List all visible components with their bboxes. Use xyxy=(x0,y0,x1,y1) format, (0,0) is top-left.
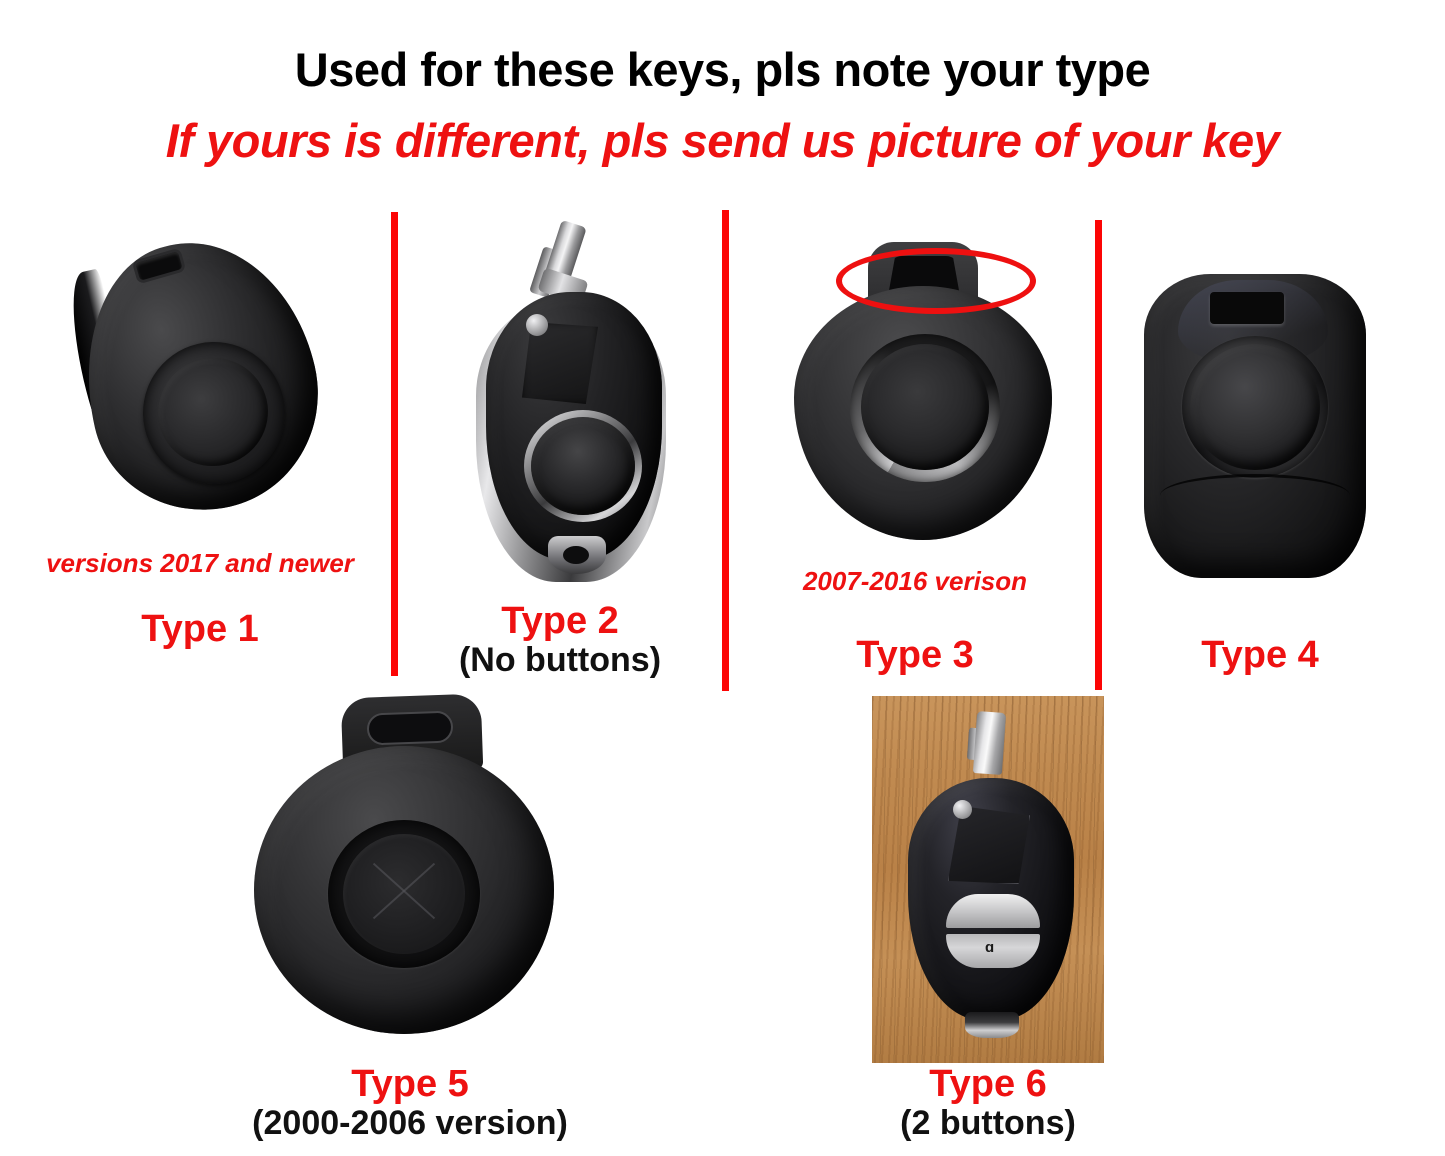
key-image-type-5 xyxy=(250,694,570,1044)
type-2-sublabel: (No buttons) xyxy=(410,641,710,680)
type-2-label: Type 2 xyxy=(410,600,710,643)
key-image-type-1 xyxy=(70,232,370,532)
type-1-label: Type 1 xyxy=(20,608,380,651)
fob-screw-icon xyxy=(953,800,972,819)
type-3-label: Type 3 xyxy=(740,634,1090,677)
key-type-reference-chart: Used for these keys, pls note your type … xyxy=(0,0,1445,1156)
type-5-label: Type 5 xyxy=(230,1063,590,1106)
fob-button-icon xyxy=(531,417,635,515)
key-image-type-3 xyxy=(778,238,1068,548)
type-6-label: Type 6 xyxy=(838,1063,1138,1106)
type-6-sublabel: (2 buttons) xyxy=(838,1104,1138,1143)
fob-base-icon xyxy=(965,1012,1019,1038)
fob-button-icon xyxy=(1190,344,1320,470)
fob-button-icon xyxy=(343,834,465,954)
column-divider-2 xyxy=(722,210,729,691)
key-image-type-2 xyxy=(460,218,690,588)
fob-button-icon xyxy=(861,344,989,470)
keyring-hole-icon xyxy=(563,546,589,564)
key-image-type-6: ɑ xyxy=(872,696,1104,1063)
page-subtitle: If yours is different, pls send us pictu… xyxy=(0,113,1445,168)
type-1-note: versions 2017 and newer xyxy=(20,548,380,579)
keyring-slot-icon xyxy=(1210,292,1284,324)
fob-seam-icon xyxy=(1160,474,1350,517)
padlock-glyph-icon: ɑ xyxy=(985,940,998,955)
type-4-label: Type 4 xyxy=(1110,634,1410,677)
type-5-sublabel: (2000-2006 version) xyxy=(230,1104,590,1143)
page-title: Used for these keys, pls note your type xyxy=(0,42,1445,97)
lock-button-icon xyxy=(946,894,1040,928)
type-3-note: 2007-2016 verison xyxy=(740,566,1090,597)
column-divider-1 xyxy=(391,212,398,676)
column-divider-3 xyxy=(1095,220,1102,690)
key-image-type-4 xyxy=(1138,268,1388,588)
keyring-slot-icon xyxy=(366,711,453,746)
fob-screw-icon xyxy=(526,314,548,336)
red-highlight-ellipse-icon xyxy=(836,248,1036,314)
key-blade-icon xyxy=(973,711,1006,775)
